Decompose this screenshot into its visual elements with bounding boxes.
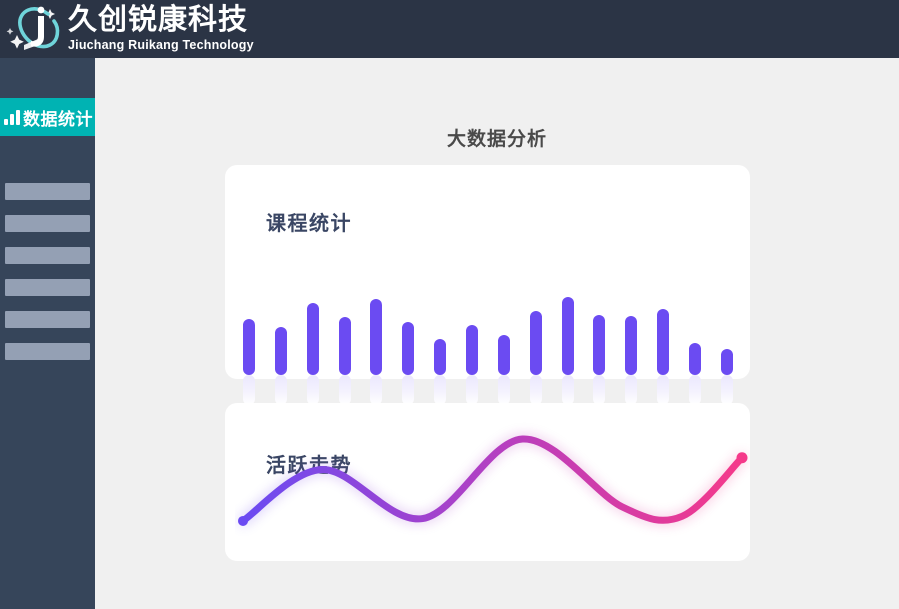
bar-reflection: [307, 375, 319, 405]
bar-column: [689, 295, 701, 405]
sidebar-placeholder-item[interactable]: [5, 279, 90, 296]
bar-column: [530, 295, 542, 405]
bar-segment: [339, 317, 351, 375]
bar-segment: [593, 315, 605, 375]
bar-segment: [370, 299, 382, 375]
page-title: 大数据分析: [95, 124, 899, 151]
sidebar-placeholder-item[interactable]: [5, 343, 90, 360]
card-activity-trend: 活跃走势: [225, 403, 750, 561]
bar-column: [625, 295, 637, 405]
sidebar-placeholder-item[interactable]: [5, 247, 90, 264]
sidebar-placeholder-item[interactable]: [5, 215, 90, 232]
main-content: 大数据分析 课程统计 活跃走势: [95, 58, 899, 609]
trend-end-point: [737, 452, 748, 463]
bar-reflection: [243, 375, 255, 405]
bar-column: [339, 295, 351, 405]
bar-segment: [275, 327, 287, 375]
bar-column: [657, 295, 669, 405]
bar-reflection: [370, 375, 382, 405]
brand-block[interactable]: 久创锐康科技 Jiuchang Ruikang Technology: [0, 1, 254, 57]
bar-chart: [243, 295, 733, 405]
bar-segment: [498, 335, 510, 375]
bar-column: [434, 295, 446, 405]
bar-column: [370, 295, 382, 405]
bar-reflection: [689, 375, 701, 405]
bar-reflection: [466, 375, 478, 405]
trend-line-chart: [235, 411, 750, 556]
bar-reflection: [498, 375, 510, 405]
bar-column: [562, 295, 574, 405]
bar-segment: [243, 319, 255, 375]
sidebar-placeholder-item[interactable]: [5, 311, 90, 328]
brand-name-cn: 久创锐康科技: [68, 5, 254, 35]
bar-reflection: [593, 375, 605, 405]
bar-segment: [402, 322, 414, 375]
sidebar-item-data-statistics[interactable]: 数据统计: [0, 98, 95, 136]
sidebar: 数据统计: [0, 58, 95, 609]
brand-text: 久创锐康科技 Jiuchang Ruikang Technology: [68, 5, 254, 52]
bar-segment: [562, 297, 574, 375]
bar-column: [721, 295, 733, 405]
bar-column: [243, 295, 255, 405]
bar-column: [402, 295, 414, 405]
bar-column: [466, 295, 478, 405]
bar-column: [307, 295, 319, 405]
logo-j-swoosh-icon: [4, 1, 66, 57]
bar-segment: [434, 339, 446, 375]
bar-reflection: [562, 375, 574, 405]
bar-reflection: [721, 375, 733, 405]
brand-name-en: Jiuchang Ruikang Technology: [68, 38, 254, 53]
bar-segment: [721, 349, 733, 375]
bar-segment: [307, 303, 319, 375]
bar-reflection: [530, 375, 542, 405]
card-title: 课程统计: [266, 207, 352, 236]
bar-reflection: [625, 375, 637, 405]
bar-segment: [466, 325, 478, 375]
sidebar-item-label: 数据统计: [23, 105, 93, 130]
bar-chart-icon: [4, 110, 20, 125]
bar-column: [498, 295, 510, 405]
bar-column: [275, 295, 287, 405]
bar-reflection: [434, 375, 446, 405]
bar-column: [593, 295, 605, 405]
bar-reflection: [402, 375, 414, 405]
bar-segment: [689, 343, 701, 375]
bar-reflection: [657, 375, 669, 405]
bar-reflection: [339, 375, 351, 405]
bar-segment: [657, 309, 669, 375]
bar-segment: [625, 316, 637, 375]
trend-start-point: [238, 516, 248, 526]
trend-line-glow: [243, 439, 742, 521]
app-header: 久创锐康科技 Jiuchang Ruikang Technology: [0, 0, 899, 58]
bar-reflection: [275, 375, 287, 405]
bar-segment: [530, 311, 542, 375]
sidebar-placeholder-item[interactable]: [5, 183, 90, 200]
card-course-statistics: 课程统计: [225, 165, 750, 379]
sidebar-placeholder-list: [5, 183, 90, 360]
